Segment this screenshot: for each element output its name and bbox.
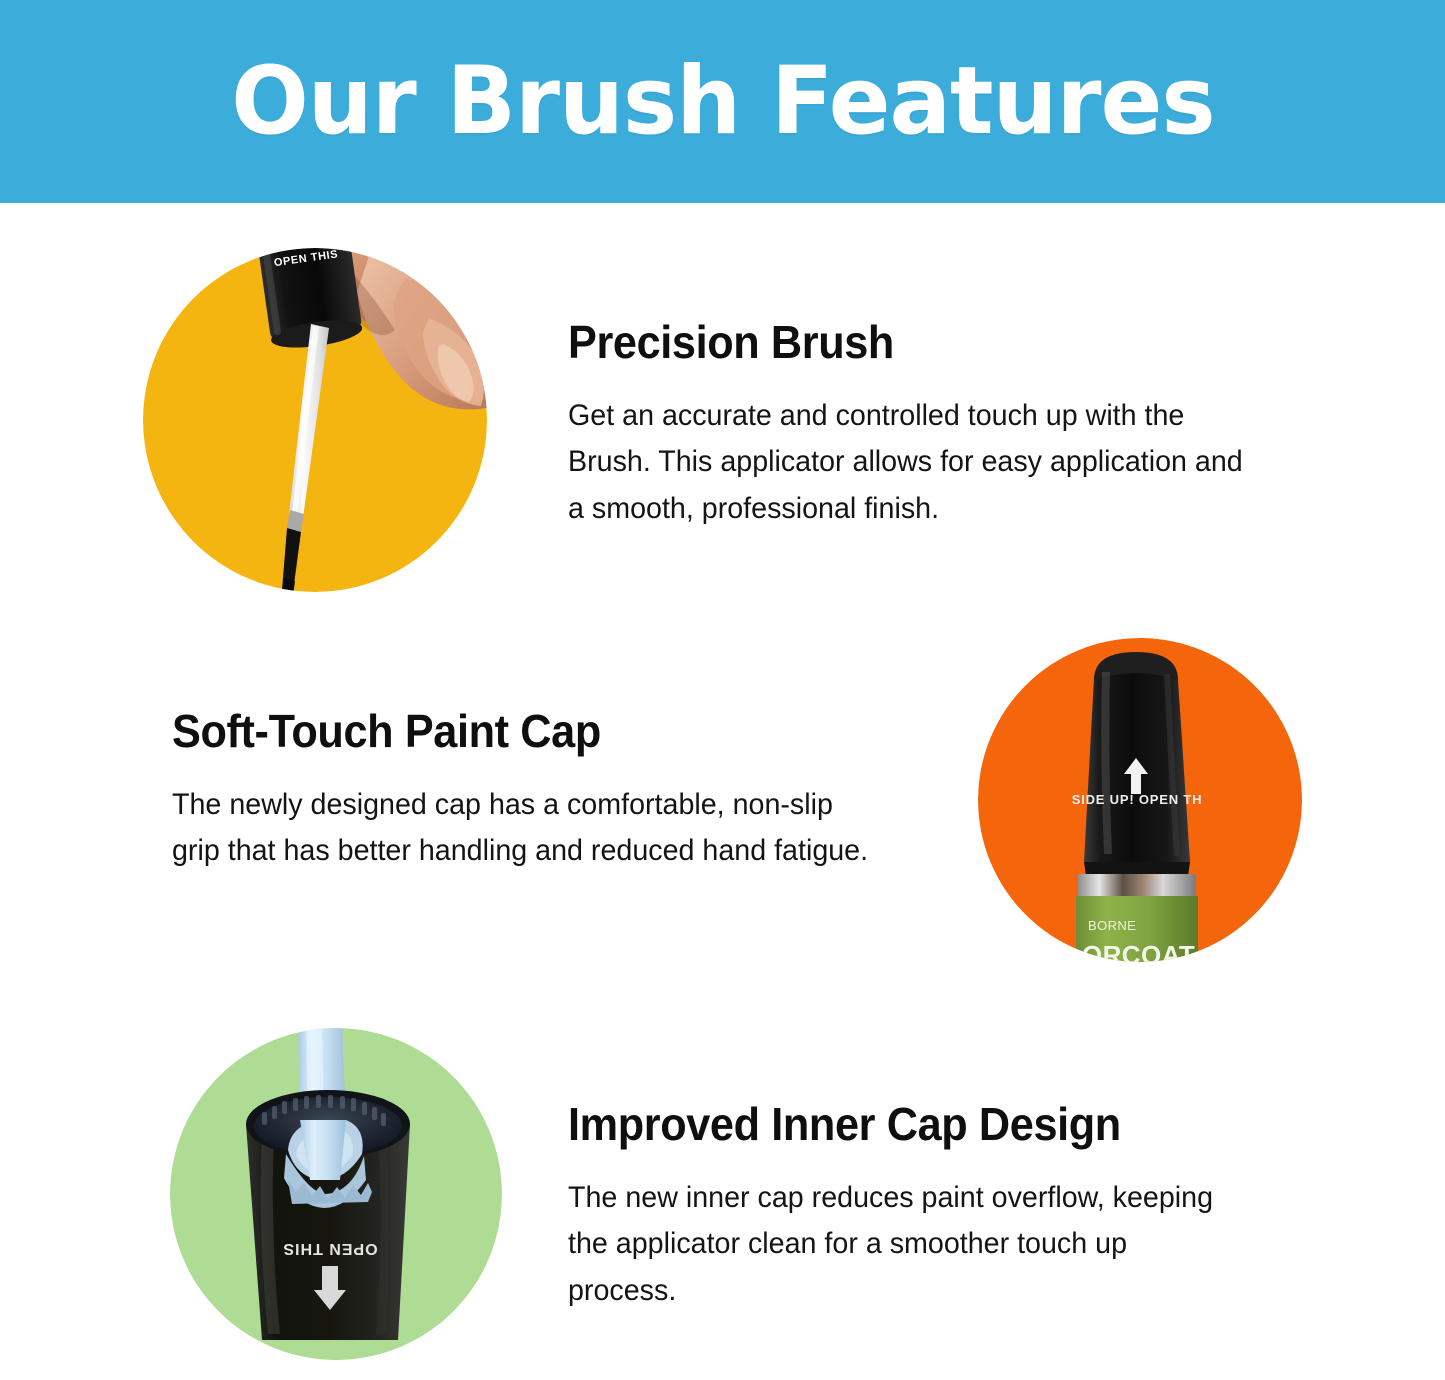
soft-touch-cap-photo: SIDE UP! OPEN TH BORNE ORCOAT [978, 638, 1302, 962]
inner-cap-illustration: OPEN THIS [170, 1028, 502, 1360]
feature-copy: Improved Inner Cap Design The new inner … [568, 1100, 1268, 1314]
label-line-1: BORNE [1088, 918, 1136, 933]
feature-title: Improved Inner Cap Design [568, 1100, 1226, 1149]
feature-description: The newly designed cap has a comfortable… [172, 782, 879, 875]
page-title: Our Brush Features [231, 55, 1215, 149]
label-line-2: ORCOAT [1082, 940, 1195, 962]
feature-description: Get an accurate and controlled touch up … [568, 393, 1265, 533]
soft-touch-cap-illustration: SIDE UP! OPEN TH BORNE ORCOAT [978, 638, 1302, 962]
cap-label-text: OPEN THIS [282, 1240, 377, 1257]
feature-copy: Soft-Touch Paint Cap The newly designed … [172, 707, 912, 875]
cap-label-text: SIDE UP! OPEN TH [1072, 792, 1203, 807]
inner-cap-photo: OPEN THIS [170, 1028, 502, 1360]
feature-title: Precision Brush [568, 318, 1254, 367]
brush-applicator-illustration: OPEN THIS [143, 248, 487, 592]
feature-copy: Precision Brush Get an accurate and cont… [568, 318, 1298, 532]
feature-description: The new inner cap reduces paint overflow… [568, 1175, 1237, 1315]
brush-applicator-photo: OPEN THIS [143, 248, 487, 592]
page-header-banner: Our Brush Features [0, 0, 1445, 203]
feature-title: Soft-Touch Paint Cap [172, 707, 868, 756]
